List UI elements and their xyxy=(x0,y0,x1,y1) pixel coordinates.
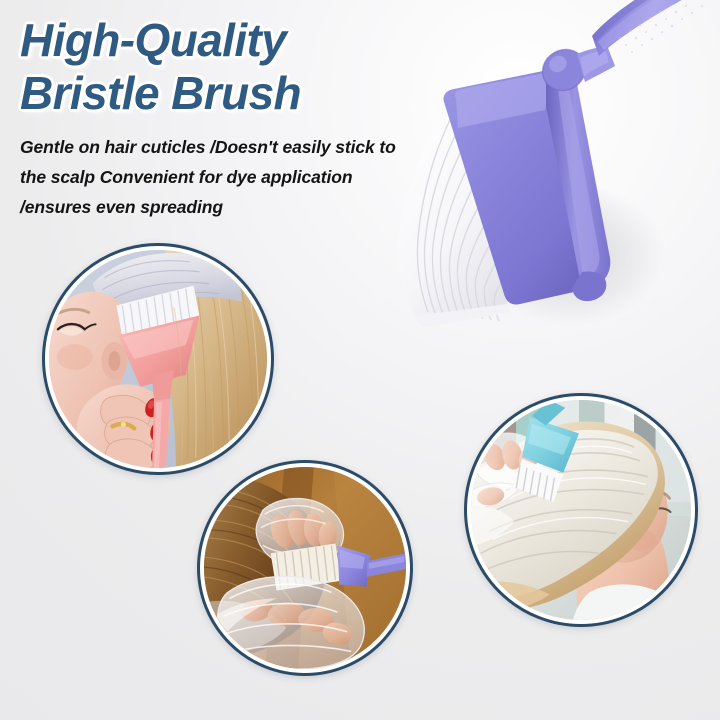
headline-block: High-Quality Bristle Brush Gentle on hai… xyxy=(20,14,420,222)
brush-handle xyxy=(592,0,720,56)
photo-circle-blonde-bleach-teal-brush xyxy=(464,393,698,627)
photo-clip xyxy=(471,400,691,620)
photo-clip xyxy=(204,467,406,669)
photo-circle-gloved-hands-purple-brush xyxy=(197,460,413,676)
headline-line-2: Bristle Brush xyxy=(20,67,420,120)
photo-illustration-1 xyxy=(49,250,267,468)
feature-subcopy: Gentle on hair cuticles /Doesn't easily … xyxy=(20,132,398,222)
photo-illustration-2 xyxy=(204,467,406,669)
photo-clip xyxy=(49,250,267,468)
product-brush-image xyxy=(396,0,720,366)
photo-illustration-3 xyxy=(471,400,691,620)
photo-circle-blonde-roots-pink-brush xyxy=(42,243,274,475)
headline-line-1: High-Quality xyxy=(20,14,420,67)
